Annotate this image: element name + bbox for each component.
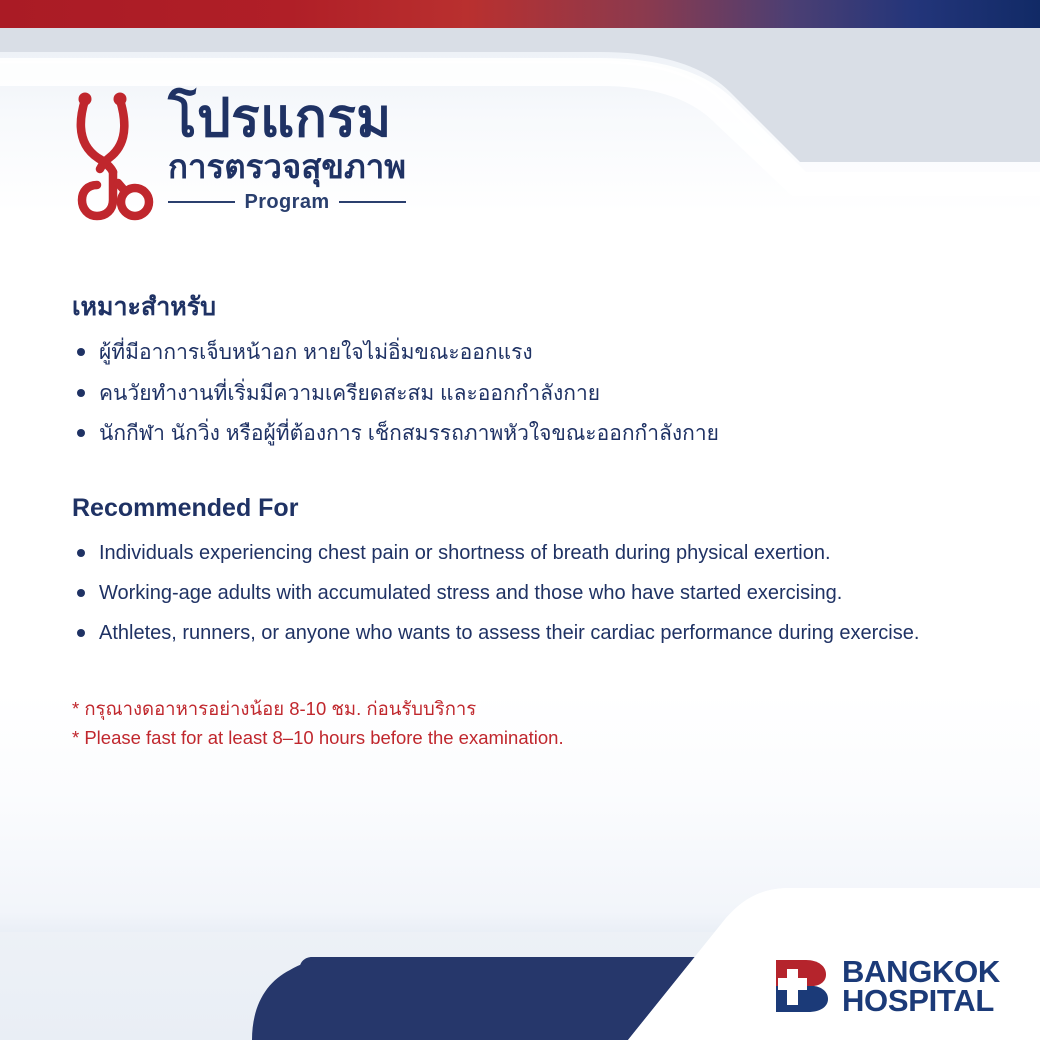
heading-english: Recommended For: [72, 493, 1012, 524]
fasting-notes: * กรุณางดอาหารอย่างน้อย 8-10 ชม. ก่อนรับ…: [72, 695, 1012, 752]
logo-title-thai: โปรแกรม: [168, 92, 392, 146]
bangkok-hospital-cross-b-icon: [773, 957, 831, 1015]
logo-program-word: Program: [244, 191, 329, 214]
wordmark-line1: BANGKOK: [842, 957, 1000, 986]
note-english: * Please fast for at least 8–10 hours be…: [72, 724, 1012, 753]
list-item: นักกีฬา นักวิ่ง หรือผู้ที่ต้องการ เช็กสม…: [72, 418, 1012, 450]
top-gradient-bar: [0, 0, 1040, 28]
rule-right: [339, 201, 406, 203]
wordmark-line2: HOSPITAL: [842, 986, 1000, 1015]
list-item: Athletes, runners, or anyone who wants t…: [72, 618, 1012, 649]
bullet-list-thai: ผู้ที่มีอาการเจ็บหน้าอก หายใจไม่อิ่มขณะอ…: [72, 337, 1012, 450]
bangkok-hospital-logo: BANGKOK HOSPITAL: [773, 957, 1000, 1015]
list-item: ผู้ที่มีอาการเจ็บหน้าอก หายใจไม่อิ่มขณะอ…: [72, 337, 1012, 369]
program-logo: โปรแกรม การตรวจสุขภาพ Program: [72, 88, 406, 224]
logo-program-row: Program: [168, 191, 406, 214]
heading-thai: เหมาะสำหรับ: [72, 292, 1012, 323]
list-item: Working-age adults with accumulated stre…: [72, 578, 1012, 609]
content-area: เหมาะสำหรับ ผู้ที่มีอาการเจ็บหน้าอก หายใ…: [72, 292, 1012, 752]
stethoscope-icon: [72, 88, 156, 224]
bullet-list-english: Individuals experiencing chest pain or s…: [72, 538, 1012, 649]
rule-left: [168, 201, 235, 203]
note-thai: * กรุณางดอาหารอย่างน้อย 8-10 ชม. ก่อนรับ…: [72, 695, 1012, 724]
logo-subtitle-thai: การตรวจสุขภาพ: [168, 148, 406, 186]
bangkok-hospital-wordmark: BANGKOK HOSPITAL: [842, 957, 1000, 1015]
poster-canvas: โปรแกรม การตรวจสุขภาพ Program เหมาะสำหรั…: [0, 0, 1040, 1040]
list-item: Individuals experiencing chest pain or s…: [72, 538, 1012, 569]
section-gap: [72, 459, 1012, 493]
list-item: คนวัยทำงานที่เริ่มมีความเครียดสะสม และออ…: [72, 378, 1012, 410]
